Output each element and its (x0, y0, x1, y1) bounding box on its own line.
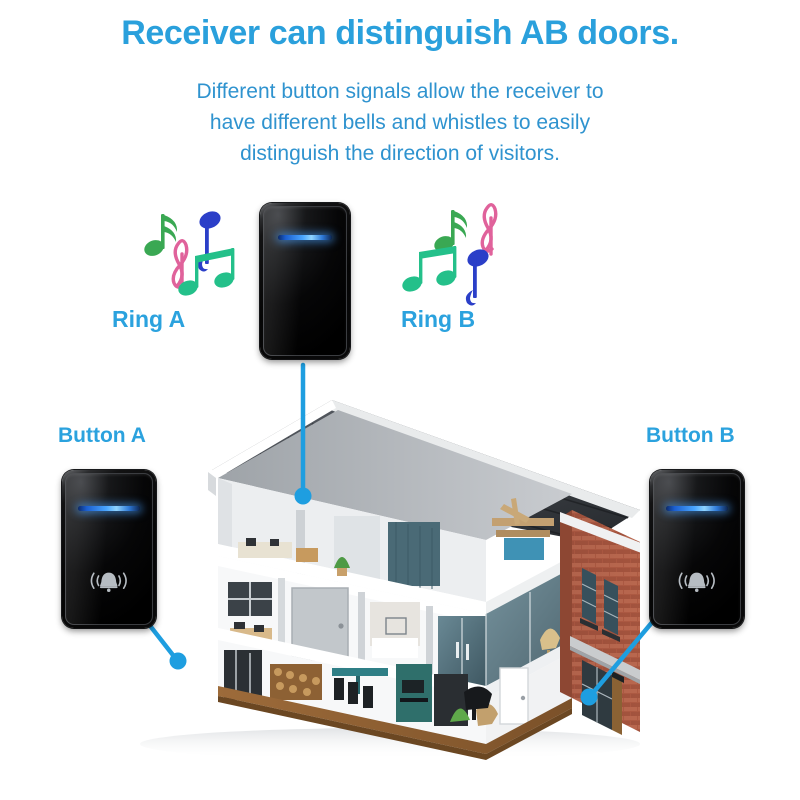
button-b-face (653, 473, 741, 625)
gloss-highlight (65, 473, 152, 625)
gloss-highlight (653, 473, 740, 625)
eighth-note-icon (197, 208, 224, 271)
receiver-face (263, 206, 347, 356)
subtitle-line-3: distinguish the direction of visitors. (0, 138, 800, 169)
button-a-device[interactable] (62, 470, 156, 628)
button-b-device[interactable] (650, 470, 744, 628)
music-notes-cluster-a (130, 198, 250, 308)
subtitle-line-1: Different button signals allow the recei… (0, 76, 800, 107)
label-button-b: Button B (646, 424, 735, 448)
treble-clef-icon (482, 205, 496, 254)
receiver-device[interactable] (260, 203, 350, 359)
led-indicator (666, 506, 728, 511)
label-button-a: Button A (58, 424, 146, 448)
beamed-eighth-notes-icon (400, 246, 458, 294)
page-subtitle: Different button signals allow the recei… (0, 76, 800, 169)
subtitle-line-2: have different bells and whistles to eas… (0, 107, 800, 138)
led-indicator (78, 506, 140, 511)
label-ring-a: Ring A (112, 306, 185, 333)
page-title: Receiver can distinguish AB doors. (0, 14, 800, 53)
doorbell-icon (85, 564, 133, 597)
gloss-highlight (263, 206, 347, 356)
eighth-note-icon (465, 246, 492, 305)
button-a-face (65, 473, 153, 625)
infographic-canvas: Receiver can distinguish AB doors. Diffe… (0, 0, 800, 800)
sixteenth-note-icon (142, 214, 177, 259)
led-indicator (278, 235, 332, 240)
music-notes-cluster-b (400, 198, 520, 308)
doorbell-icon (673, 564, 721, 597)
label-ring-b: Ring B (401, 306, 475, 333)
cutaway-house-illustration (120, 392, 640, 764)
